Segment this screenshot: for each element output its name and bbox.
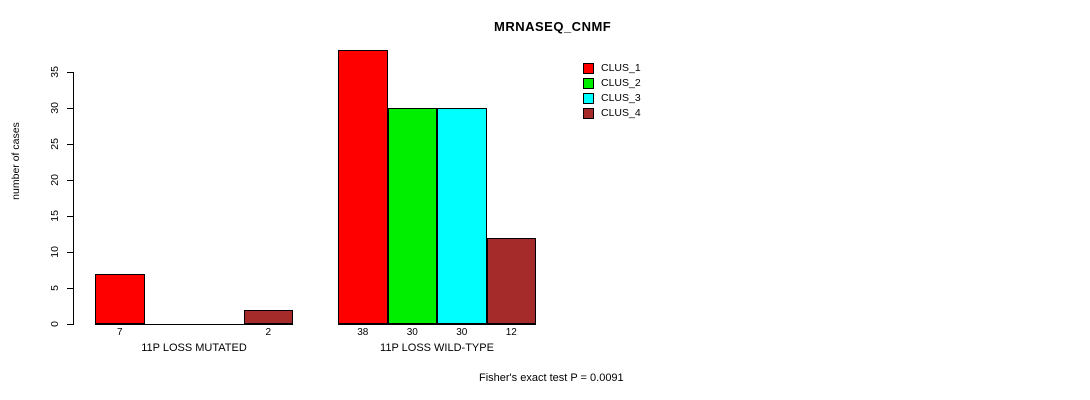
y-axis-tick-label: 15 (48, 207, 62, 225)
y-axis-tick-mark (67, 144, 73, 145)
group-baseline (338, 324, 536, 325)
chart-legend: CLUS_1CLUS_2CLUS_3CLUS_4 (583, 61, 641, 121)
statistical-test-annotation: Fisher's exact test P = 0.0091 (479, 372, 624, 384)
y-axis-tick-label: 0 (48, 315, 62, 333)
y-axis-tick-mark (67, 288, 73, 289)
bar-clus_3-group2 (437, 108, 487, 324)
bar-chart-plot: MRNASEQ_CNMF 05101520253035 number of ca… (0, 0, 1090, 400)
y-axis-tick-label: 25 (48, 135, 62, 153)
legend-color-swatch-icon (583, 93, 594, 104)
y-axis-tick-mark (67, 108, 73, 109)
legend-color-swatch-icon (583, 63, 594, 74)
y-axis-line (73, 72, 74, 325)
y-axis-tick-mark (67, 72, 73, 73)
y-axis-tick-label: 35 (48, 63, 62, 81)
y-axis-tick-label: 30 (48, 99, 62, 117)
y-axis-tick-label: 10 (48, 243, 62, 261)
y-axis-tick-mark (67, 252, 73, 253)
y-axis-title: number of cases (10, 101, 22, 221)
x-axis-group-label: 11P LOSS WILD-TYPE (298, 342, 576, 354)
bar-clus_1-group2 (338, 50, 388, 324)
y-axis-tick-mark (67, 216, 73, 217)
bar-value-label: 2 (244, 327, 294, 338)
bar-clus_4-group1 (244, 310, 294, 324)
bar-clus_4-group2 (487, 238, 537, 324)
legend-color-swatch-icon (583, 78, 594, 89)
legend-item-label: CLUS_4 (601, 108, 641, 119)
y-axis-tick-mark (67, 180, 73, 181)
bar-value-label: 30 (388, 327, 438, 338)
y-axis-tick-label: 20 (48, 171, 62, 189)
legend-item-clus_1[interactable]: CLUS_1 (583, 61, 641, 76)
legend-color-swatch-icon (583, 108, 594, 119)
y-axis-tick-label: 5 (48, 279, 62, 297)
bar-clus_1-group1 (95, 274, 145, 324)
x-axis-group-label: 11P LOSS MUTATED (55, 342, 333, 354)
legend-item-clus_2[interactable]: CLUS_2 (583, 76, 641, 91)
group-baseline (95, 324, 293, 325)
legend-item-clus_3[interactable]: CLUS_3 (583, 91, 641, 106)
bar-clus_2-group2 (388, 108, 438, 324)
legend-item-label: CLUS_1 (601, 63, 641, 74)
legend-item-clus_4[interactable]: CLUS_4 (583, 106, 641, 121)
bar-value-label: 12 (487, 327, 537, 338)
chart-title: MRNASEQ_CNMF (494, 19, 611, 34)
legend-item-label: CLUS_2 (601, 78, 641, 89)
bar-value-label: 7 (95, 327, 145, 338)
bar-value-label: 30 (437, 327, 487, 338)
legend-item-label: CLUS_3 (601, 93, 641, 104)
y-axis-tick-mark (67, 324, 73, 325)
bar-value-label: 38 (338, 327, 388, 338)
